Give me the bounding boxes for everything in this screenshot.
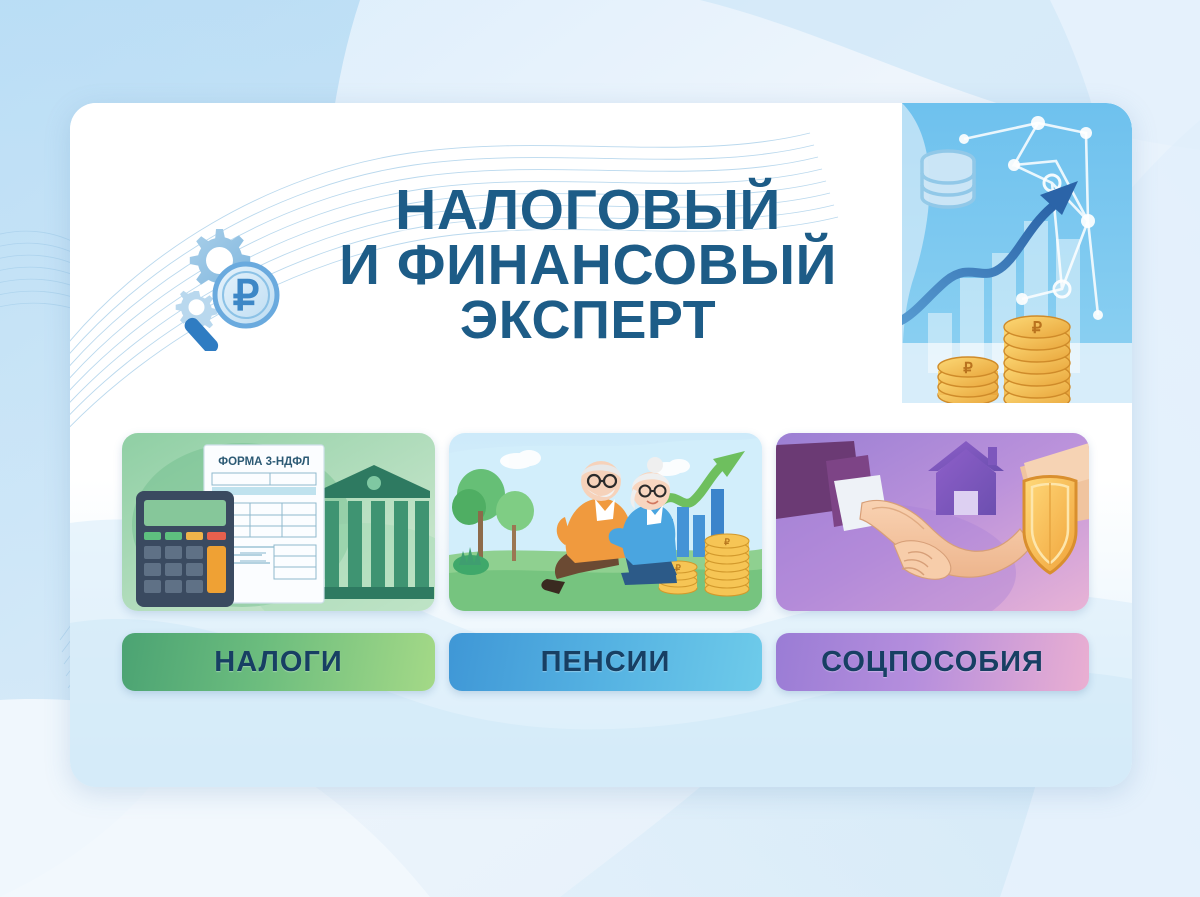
government-building-icon [316,465,434,599]
svg-text:₽: ₽ [1032,320,1042,337]
form-caption: ФОРМА 3-НДФЛ [218,456,309,468]
page-title: НАЛОГОВЫЙ И ФИНАНСОВЫЙ ЭКСПЕРТ [298,183,878,346]
topic-column-taxes: ФОРМА 3-НДФЛ [122,433,435,693]
topic-button-taxes[interactable]: НАЛОГИ [122,633,435,691]
finance-growth-illustration: ₽ ₽ [902,103,1132,403]
handshake-house-shield-illustration[interactable] [776,433,1089,611]
svg-text:₽: ₽ [963,360,973,377]
svg-text:₽: ₽ [724,537,730,547]
coin-stack-large: ₽ [1004,316,1070,403]
topic-cards-row: ФОРМА 3-НДФЛ [122,433,1090,693]
topic-button-social[interactable]: СОЦПОСОБИЯ [776,633,1089,691]
title-line-1: НАЛОГОВЫЙ [298,183,878,238]
ruble-symbol: ₽ [233,272,260,319]
topic-button-pension[interactable]: ПЕНСИИ [449,633,762,691]
tax-form-calculator-bank-illustration[interactable]: ФОРМА 3-НДФЛ [122,433,435,611]
header-zone: ₽ [70,103,1132,415]
title-line-3: ЭКСПЕРТ [298,294,878,346]
title-line-2: И ФИНАНСОВЫЙ [298,238,878,293]
topic-column-pension: ₽ ₽ [449,433,762,693]
topic-column-social: СОЦПОСОБИЯ [776,433,1089,693]
calculator-icon [136,491,234,607]
elderly-couple-park-illustration[interactable]: ₽ ₽ [449,433,762,611]
poster-card: ₽ [70,103,1132,787]
database-icon [922,151,974,207]
coin-stack-small: ₽ [938,357,998,403]
gears-magnifier-ruble-logo: ₽ [168,211,288,351]
svg-text:₽: ₽ [675,563,681,573]
